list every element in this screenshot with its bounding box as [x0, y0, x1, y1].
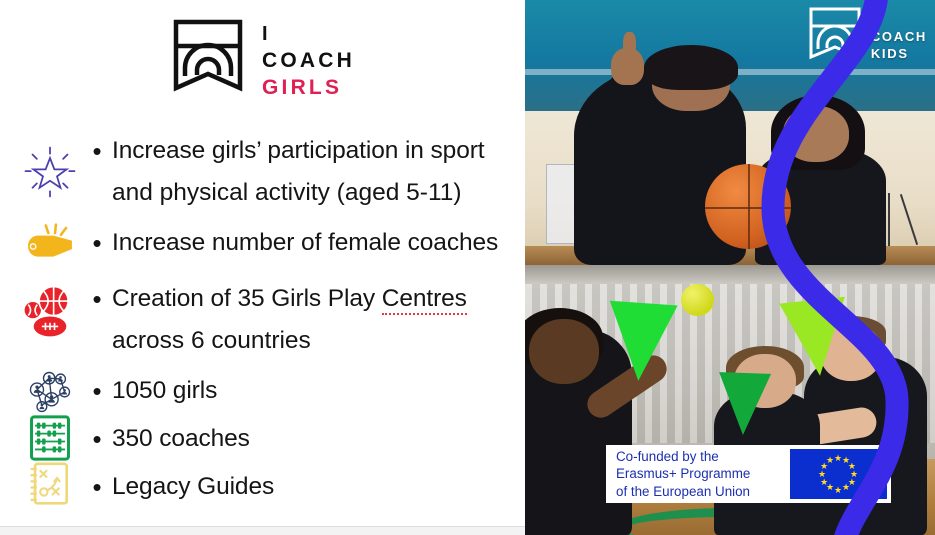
list-item-continuation: and physical activity (aged 5-11) — [112, 172, 525, 214]
erasmus-funding-badge: Co-funded by the Erasmus+ Programme of t… — [606, 445, 891, 503]
slide-left-content: I COACH GIRLS — [0, 0, 525, 535]
slide-photo-column: I COACH KIDS — [525, 0, 935, 535]
whistle-icon — [18, 222, 82, 266]
eu-flag-star: ★ — [818, 470, 826, 479]
playbook-strategy-icon — [18, 460, 82, 508]
ick-line-coach: COACH — [871, 29, 927, 46]
bullet-marker: • — [82, 278, 112, 320]
eu-flag-star: ★ — [826, 456, 834, 465]
list-item-label: Increase number of female coaches — [112, 222, 498, 264]
i-coach-kids-logo: I COACH KIDS — [808, 6, 927, 70]
yellow-ball — [681, 284, 714, 316]
logo-line-girls: GIRLS — [262, 75, 355, 102]
bullet-marker: • — [82, 222, 112, 264]
slide-bottom-divider — [0, 526, 525, 535]
abacus-icon — [18, 414, 82, 462]
green-cone-scoop — [717, 372, 771, 436]
eu-flag-star: ★ — [820, 478, 828, 487]
ick-line-kids: KIDS — [871, 46, 927, 63]
list-item-label: 1050 girls — [112, 370, 217, 412]
basketball — [705, 164, 791, 249]
list-item: • Legacy Guides — [0, 466, 525, 508]
list-item-label: Creation of 35 Girls Play Centres — [112, 278, 467, 320]
list-item: • Increase girls’ participation in sport — [0, 130, 525, 172]
logo-wordmark: I COACH GIRLS — [262, 22, 355, 101]
ick-line-i: I — [871, 13, 927, 29]
ceiling-beam — [525, 265, 935, 284]
list-item: • Increase number of female coaches — [0, 222, 525, 264]
list-item: • 350 coaches — [0, 418, 525, 460]
banner-logo-icon — [808, 6, 862, 70]
list-item: • 1050 girls — [0, 370, 525, 412]
bullet-marker: • — [82, 130, 112, 172]
list-item-label: Increase girls’ participation in sport — [112, 130, 485, 172]
green-cone-scoop — [604, 301, 677, 384]
child-left-head — [529, 319, 599, 384]
list-item-continuation: across 6 countries — [112, 320, 525, 362]
bullet-list: • Increase girls’ participation in sport… — [0, 130, 525, 508]
list-item-label: 350 coaches — [112, 418, 250, 460]
girl-head — [783, 106, 849, 162]
sparkle-star-icon — [18, 144, 82, 200]
network-people-icon — [18, 368, 82, 416]
logo-line-i: I — [262, 22, 355, 48]
eu-flag-star: ★ — [842, 483, 850, 492]
logo-line-coach: COACH — [262, 48, 355, 75]
erasmus-line-1: Co-funded by the — [616, 448, 790, 465]
eu-flag-star: ★ — [834, 454, 842, 463]
sports-balls-icon — [18, 282, 82, 340]
eu-flag-star: ★ — [834, 486, 842, 495]
green-cone-scoop — [780, 297, 854, 379]
bullet-marker: • — [82, 466, 112, 508]
erasmus-line-2: Erasmus+ Programme — [616, 465, 790, 482]
i-coach-girls-logo: I COACH GIRLS — [172, 18, 355, 106]
list-item-label-text: Creation of 35 Girls Play — [112, 285, 382, 312]
banner-logo-icon — [172, 18, 244, 106]
coach-hair — [644, 45, 738, 90]
basketball-coaching-photo: I COACH KIDS — [525, 0, 935, 265]
cone-catch-activity-photo: Co-funded by the Erasmus+ Programme of t… — [525, 265, 935, 535]
european-union-flag: ★★★★★★★★★★★★ — [790, 449, 887, 499]
presentation-slide: I COACH GIRLS — [0, 0, 935, 535]
bullet-marker: • — [82, 370, 112, 412]
erasmus-badge-text: Co-funded by the Erasmus+ Programme of t… — [610, 448, 790, 499]
bullet-marker: • — [82, 418, 112, 460]
ick-wordmark: I COACH KIDS — [871, 13, 927, 62]
erasmus-line-3: of the European Union — [616, 483, 790, 500]
list-item-label: Legacy Guides — [112, 466, 274, 508]
misspelled-word: Centres — [382, 285, 467, 315]
coach-finger — [623, 32, 635, 59]
list-item: • Creation of 35 Girls Play Centres — [0, 278, 525, 320]
